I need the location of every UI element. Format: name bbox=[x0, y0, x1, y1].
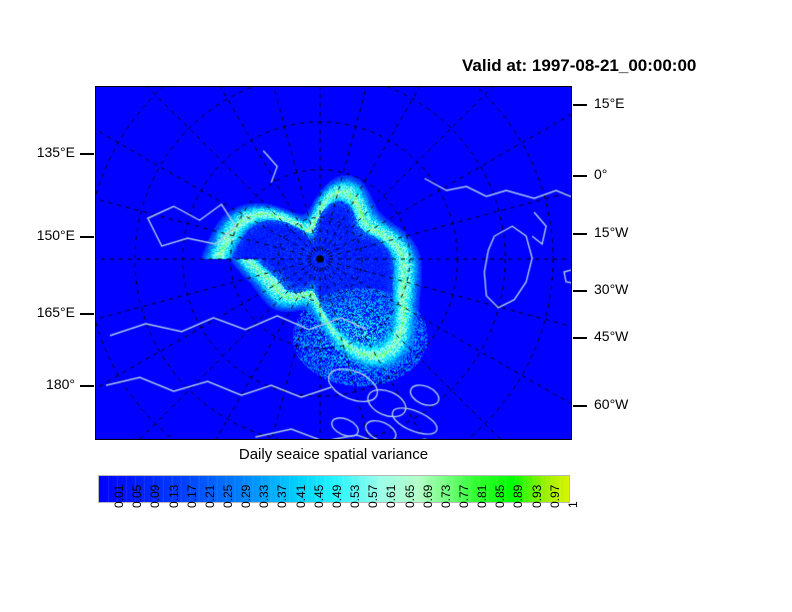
colorbar-tick-label: 0.45 bbox=[312, 485, 326, 508]
left-axis-label: 165°E bbox=[37, 304, 75, 320]
right-axis-tick bbox=[573, 104, 587, 106]
right-axis-tick bbox=[573, 175, 587, 177]
left-axis-tick bbox=[80, 385, 94, 387]
right-axis-label: 30°W bbox=[594, 281, 628, 297]
right-axis-tick bbox=[573, 233, 587, 235]
colorbar-tick-label: 0.21 bbox=[203, 485, 217, 508]
page-title: Valid at: 1997-08-21_00:00:00 bbox=[462, 56, 696, 76]
right-axis-tick bbox=[573, 337, 587, 339]
colorbar-tick-label: 0.61 bbox=[384, 485, 398, 508]
colorbar-tick-label: 0.13 bbox=[167, 485, 181, 508]
colorbar-tick-label: 0.09 bbox=[148, 485, 162, 508]
left-axis-tick bbox=[80, 153, 94, 155]
colorbar-tick-label: 0.17 bbox=[185, 485, 199, 508]
colorbar-tick-label: 0.53 bbox=[348, 485, 362, 508]
colorbar-tick-label: 0.93 bbox=[530, 485, 544, 508]
right-axis-tick bbox=[573, 290, 587, 292]
right-axis-label: 0° bbox=[594, 166, 607, 182]
colorbar-tick-label: 0.41 bbox=[294, 485, 308, 508]
colorbar-tick-label: 0.97 bbox=[548, 485, 562, 508]
left-axis-label: 135°E bbox=[37, 144, 75, 160]
colorbar-tick-label: 0.37 bbox=[275, 485, 289, 508]
colorbar-tick-label: 0.89 bbox=[511, 485, 525, 508]
colorbar-tick-label: 0.77 bbox=[457, 485, 471, 508]
colorbar-caption: Daily seaice spatial variance bbox=[0, 446, 667, 463]
colorbar-tick-label: 0.81 bbox=[475, 485, 489, 508]
right-axis-label: 45°W bbox=[594, 328, 628, 344]
right-axis-label: 60°W bbox=[594, 396, 628, 412]
colorbar-tick-label: 1 bbox=[566, 501, 580, 508]
left-axis-label: 150°E bbox=[37, 227, 75, 243]
left-axis-tick bbox=[80, 313, 94, 315]
colorbar-tick-label: 0.29 bbox=[239, 485, 253, 508]
left-axis-tick bbox=[80, 236, 94, 238]
colorbar-tick-label: 0.01 bbox=[112, 485, 126, 508]
seaice-variance-heatmap bbox=[96, 87, 571, 439]
right-axis-tick bbox=[573, 405, 587, 407]
colorbar-tick-label: 0.73 bbox=[439, 485, 453, 508]
right-axis-label: 15°E bbox=[594, 95, 625, 111]
colorbar-tick-label: 0.65 bbox=[403, 485, 417, 508]
colorbar-tick-label: 0.05 bbox=[130, 485, 144, 508]
colorbar-tick-label: 0.49 bbox=[330, 485, 344, 508]
right-axis-label: 15°W bbox=[594, 224, 628, 240]
colorbar-tick-label: 0.25 bbox=[221, 485, 235, 508]
colorbar-tick-label: 0.69 bbox=[421, 485, 435, 508]
colorbar-tick-label: 0.33 bbox=[257, 485, 271, 508]
map-plot-area bbox=[95, 86, 572, 440]
colorbar-tick-label: 0.85 bbox=[493, 485, 507, 508]
colorbar-tick-label: 0.57 bbox=[366, 485, 380, 508]
left-axis-label: 180° bbox=[46, 376, 75, 392]
